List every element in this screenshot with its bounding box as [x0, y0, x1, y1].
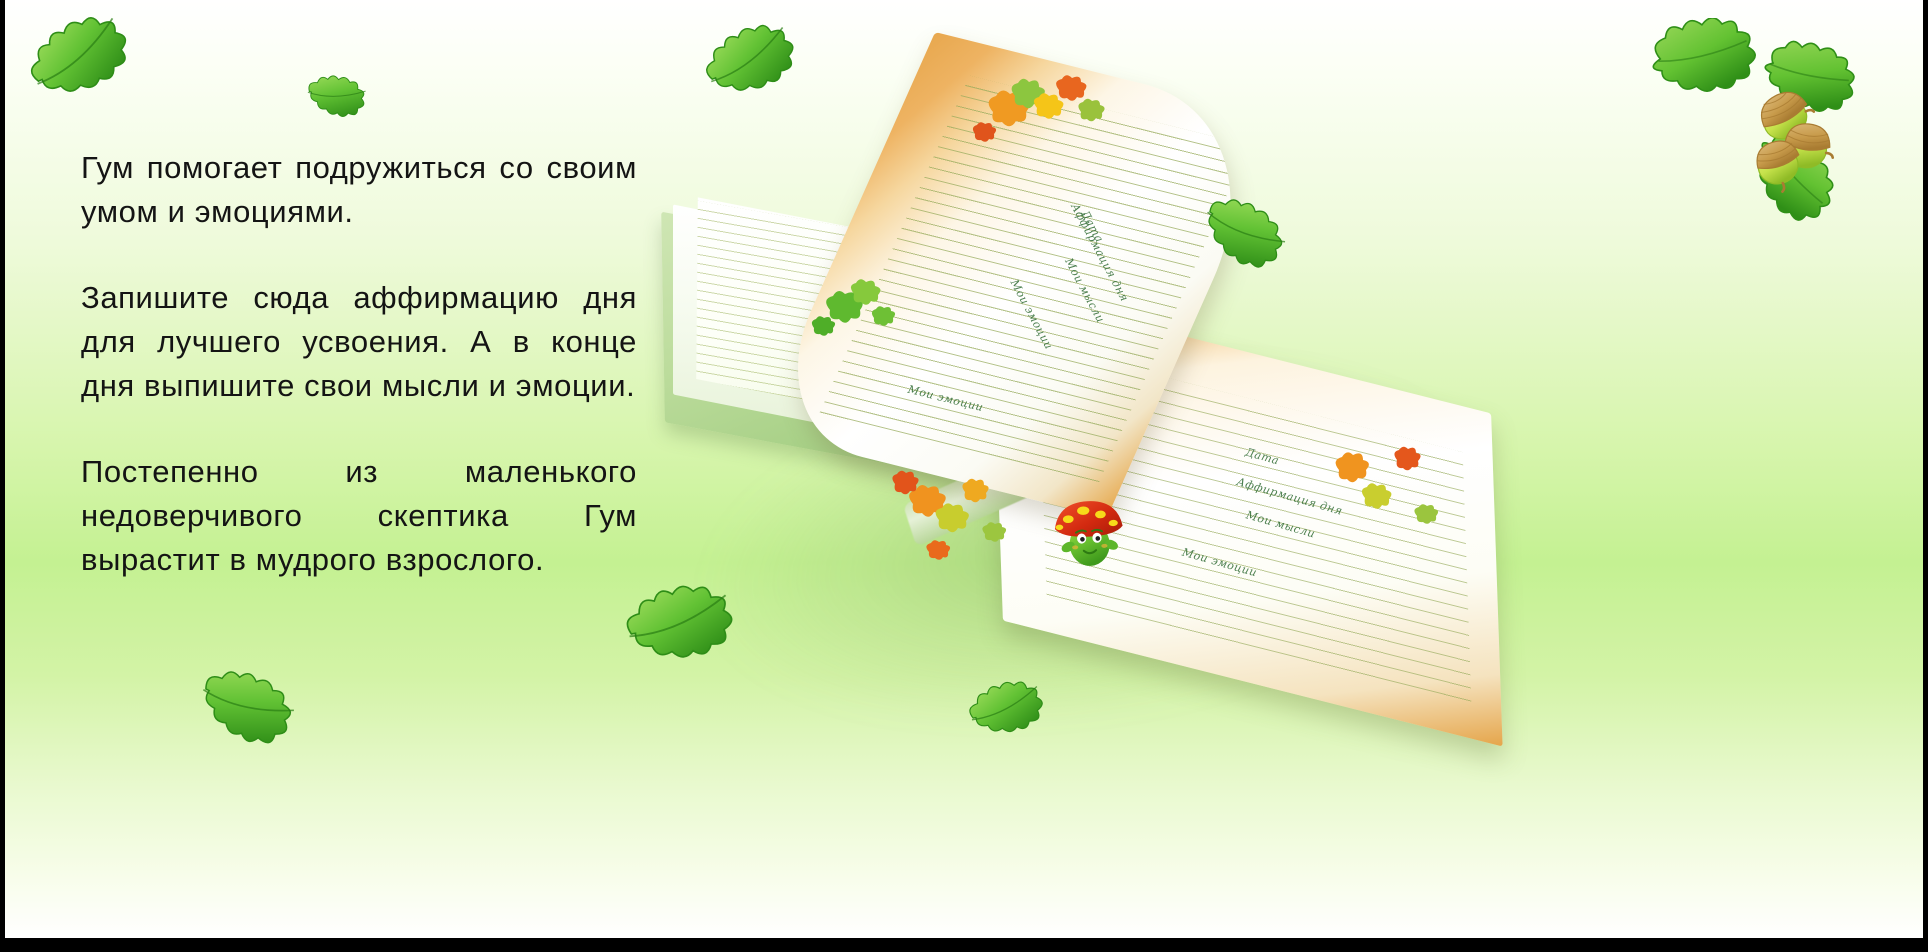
floating-leaf-top-left-large: [11, 0, 163, 133]
paragraph-3: Постепенно из маленького недоверчивого с…: [81, 450, 637, 582]
page-green-leaves-left: [800, 270, 920, 360]
slide-root: Гум помогает подружиться со своим умом и…: [0, 0, 1928, 952]
open-book-illustration: Дата Аффирмация дня Мои мысли Мои эмоции…: [645, 40, 1545, 760]
bottom-frame-bar: [0, 938, 1928, 952]
paragraph-1: Гум помогает подружиться со своим умом и…: [81, 146, 637, 234]
page-autumn-leaves-top: [963, 72, 1113, 182]
acorn-cluster-icon: [1633, 18, 1923, 244]
paragraph-2: Запишите сюда аффирмацию дня для лучшего…: [81, 276, 637, 408]
floating-leaf-top-left-small: [297, 64, 379, 137]
page-autumn-leaves-right-edge: [1305, 420, 1455, 550]
floating-leaf-bottom-left: [175, 647, 318, 783]
slide-canvas: Гум помогает подружиться со своим умом и…: [5, 0, 1923, 938]
floating-leaf-bottom-center: [616, 570, 755, 692]
page-autumn-leaves-middle: [873, 448, 1043, 578]
mushroom-character-icon: [1048, 493, 1130, 571]
text-column: Гум помогает подружиться со своим умом и…: [81, 146, 637, 582]
